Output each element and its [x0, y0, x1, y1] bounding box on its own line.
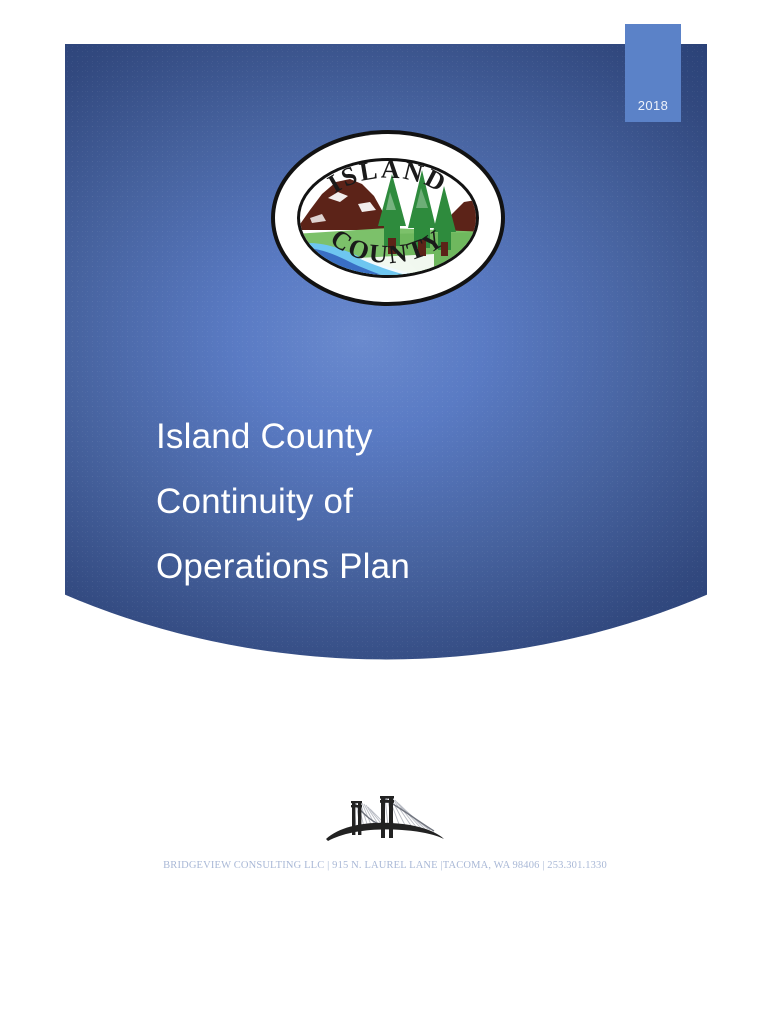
island-county-seal: ISLAND COUNTY [266, 122, 510, 314]
cover-page: 2018 [0, 0, 770, 1024]
year-badge: 2018 [625, 24, 681, 122]
year-label: 2018 [638, 98, 669, 113]
cover-title-line-2: Continuity of [156, 469, 596, 534]
footer-credit: BRIDGEVIEW CONSULTING LLC | 915 N. LAURE… [0, 860, 770, 871]
cover-title-line-3: Operations Plan [156, 534, 596, 599]
cover-title: Island County Continuity of Operations P… [156, 404, 596, 599]
bridgeview-bridge-logo [318, 787, 448, 847]
cover-title-line-1: Island County [156, 404, 596, 469]
